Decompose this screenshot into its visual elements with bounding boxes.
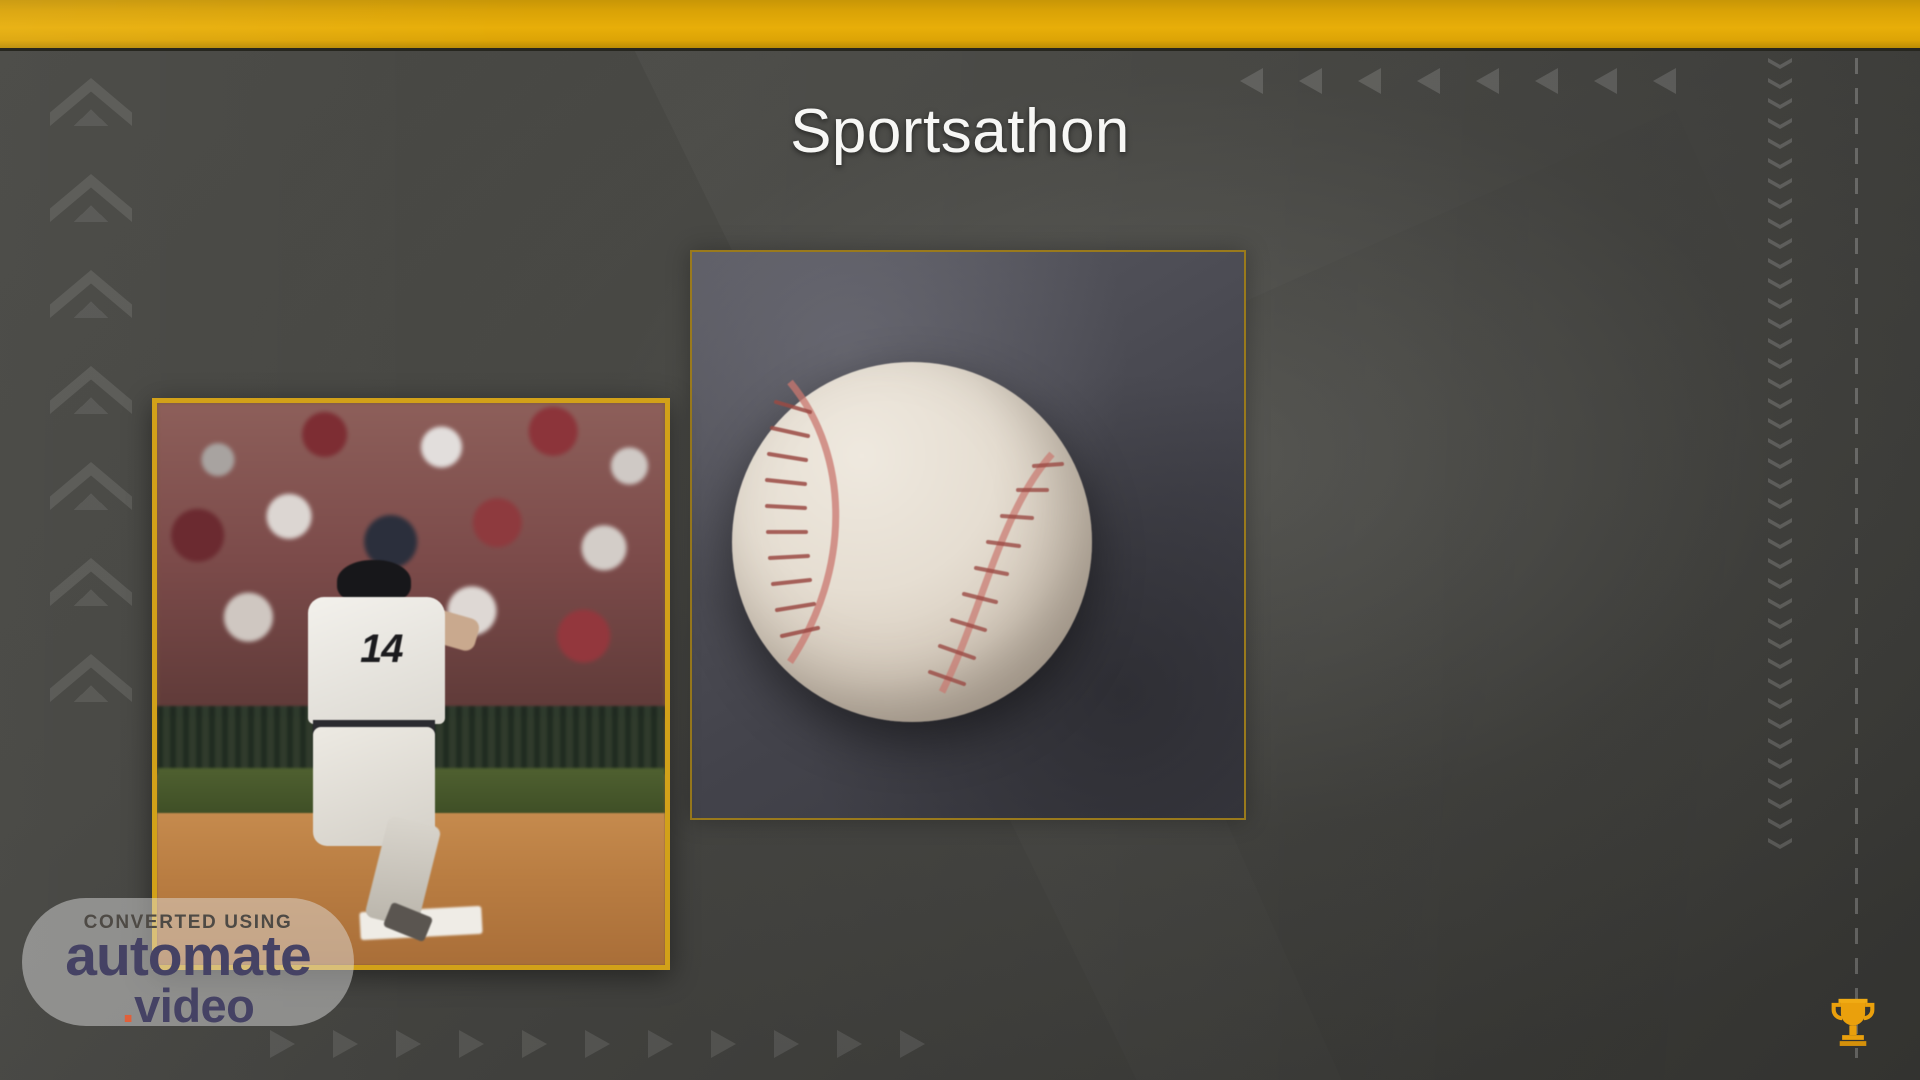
watermark-brand: automate bbox=[22, 928, 354, 985]
triangle-right-icon bbox=[270, 1030, 295, 1058]
watermark-tld-text: video bbox=[134, 979, 254, 1026]
chevron-down-icon bbox=[1768, 778, 1792, 789]
baseball-stitching bbox=[732, 362, 1092, 722]
chevron-up-icon bbox=[50, 270, 132, 318]
chevron-down-icon bbox=[1768, 278, 1792, 289]
right-dashed-line-decoration bbox=[1855, 58, 1858, 1058]
chevron-down-icon bbox=[1768, 398, 1792, 409]
chevron-down-icon bbox=[1768, 818, 1792, 829]
chevron-down-icon bbox=[1768, 698, 1792, 709]
chevron-down-icon bbox=[1768, 438, 1792, 449]
watermark-dot: . bbox=[122, 979, 135, 1026]
chevron-down-icon bbox=[1768, 318, 1792, 329]
baseball-image bbox=[690, 250, 1246, 820]
chevron-down-icon bbox=[1768, 58, 1792, 69]
triangle-left-icon bbox=[1417, 68, 1440, 94]
chevron-down-icon bbox=[1768, 458, 1792, 469]
trophy-icon bbox=[1824, 994, 1882, 1057]
left-chevron-decoration bbox=[50, 78, 132, 750]
watermark-brand-tld: .video bbox=[22, 982, 354, 1026]
chevron-up-icon bbox=[50, 174, 132, 222]
triangle-left-icon bbox=[1240, 68, 1263, 94]
chevron-down-icon bbox=[1768, 618, 1792, 629]
triangle-right-icon bbox=[585, 1030, 610, 1058]
chevron-down-icon bbox=[1768, 758, 1792, 769]
triangle-right-icon bbox=[459, 1030, 484, 1058]
watermark-badge: CONVERTED USING automate .video bbox=[22, 898, 354, 1026]
chevron-down-icon bbox=[1768, 378, 1792, 389]
chevron-down-icon bbox=[1768, 358, 1792, 369]
chevron-down-icon bbox=[1768, 298, 1792, 309]
top-triangle-decoration bbox=[1240, 68, 1676, 94]
chevron-down-icon bbox=[1768, 538, 1792, 549]
chevron-down-icon bbox=[1768, 838, 1792, 849]
chevron-down-icon bbox=[1768, 738, 1792, 749]
triangle-left-icon bbox=[1535, 68, 1558, 94]
triangle-right-icon bbox=[396, 1030, 421, 1058]
chevron-up-icon bbox=[50, 366, 132, 414]
chevron-down-icon bbox=[1768, 258, 1792, 269]
chevron-down-icon bbox=[1768, 718, 1792, 729]
chevron-down-icon bbox=[1768, 558, 1792, 569]
chevron-down-icon bbox=[1768, 478, 1792, 489]
right-chevron-column-decoration bbox=[1768, 58, 1792, 1058]
chevron-down-icon bbox=[1768, 658, 1792, 669]
chevron-up-icon bbox=[50, 558, 132, 606]
gold-bar-highlight bbox=[0, 0, 690, 48]
triangle-left-icon bbox=[1594, 68, 1617, 94]
chevron-down-icon bbox=[1768, 418, 1792, 429]
chevron-down-icon bbox=[1768, 598, 1792, 609]
chevron-down-icon bbox=[1768, 178, 1792, 189]
triangle-right-icon bbox=[837, 1030, 862, 1058]
chevron-down-icon bbox=[1768, 518, 1792, 529]
chevron-up-icon bbox=[50, 654, 132, 702]
chevron-down-icon bbox=[1768, 238, 1792, 249]
presentation-slide: Sportsathon bbox=[0, 0, 1920, 1080]
chevron-down-icon bbox=[1768, 498, 1792, 509]
page-title: Sportsathon bbox=[0, 96, 1920, 167]
triangle-right-icon bbox=[774, 1030, 799, 1058]
gold-accent-bar bbox=[0, 0, 1920, 51]
chevron-down-icon bbox=[1768, 678, 1792, 689]
chevron-down-icon bbox=[1768, 798, 1792, 809]
triangle-right-icon bbox=[711, 1030, 736, 1058]
photo-player-figure: 14 bbox=[279, 560, 523, 931]
triangle-left-icon bbox=[1653, 68, 1676, 94]
chevron-down-icon bbox=[1768, 218, 1792, 229]
player-photo: 14 bbox=[152, 398, 670, 970]
triangle-left-icon bbox=[1299, 68, 1322, 94]
chevron-down-icon bbox=[1768, 78, 1792, 89]
chevron-down-icon bbox=[1768, 578, 1792, 589]
chevron-down-icon bbox=[1768, 198, 1792, 209]
triangle-right-icon bbox=[900, 1030, 925, 1058]
triangle-left-icon bbox=[1476, 68, 1499, 94]
player-jersey-number: 14 bbox=[333, 627, 431, 672]
triangle-right-icon bbox=[522, 1030, 547, 1058]
triangle-right-icon bbox=[333, 1030, 358, 1058]
bottom-triangle-decoration bbox=[270, 1030, 925, 1058]
chevron-down-icon bbox=[1768, 638, 1792, 649]
triangle-left-icon bbox=[1358, 68, 1381, 94]
chevron-down-icon bbox=[1768, 338, 1792, 349]
triangle-right-icon bbox=[648, 1030, 673, 1058]
chevron-up-icon bbox=[50, 462, 132, 510]
baseball-object bbox=[732, 362, 1092, 722]
